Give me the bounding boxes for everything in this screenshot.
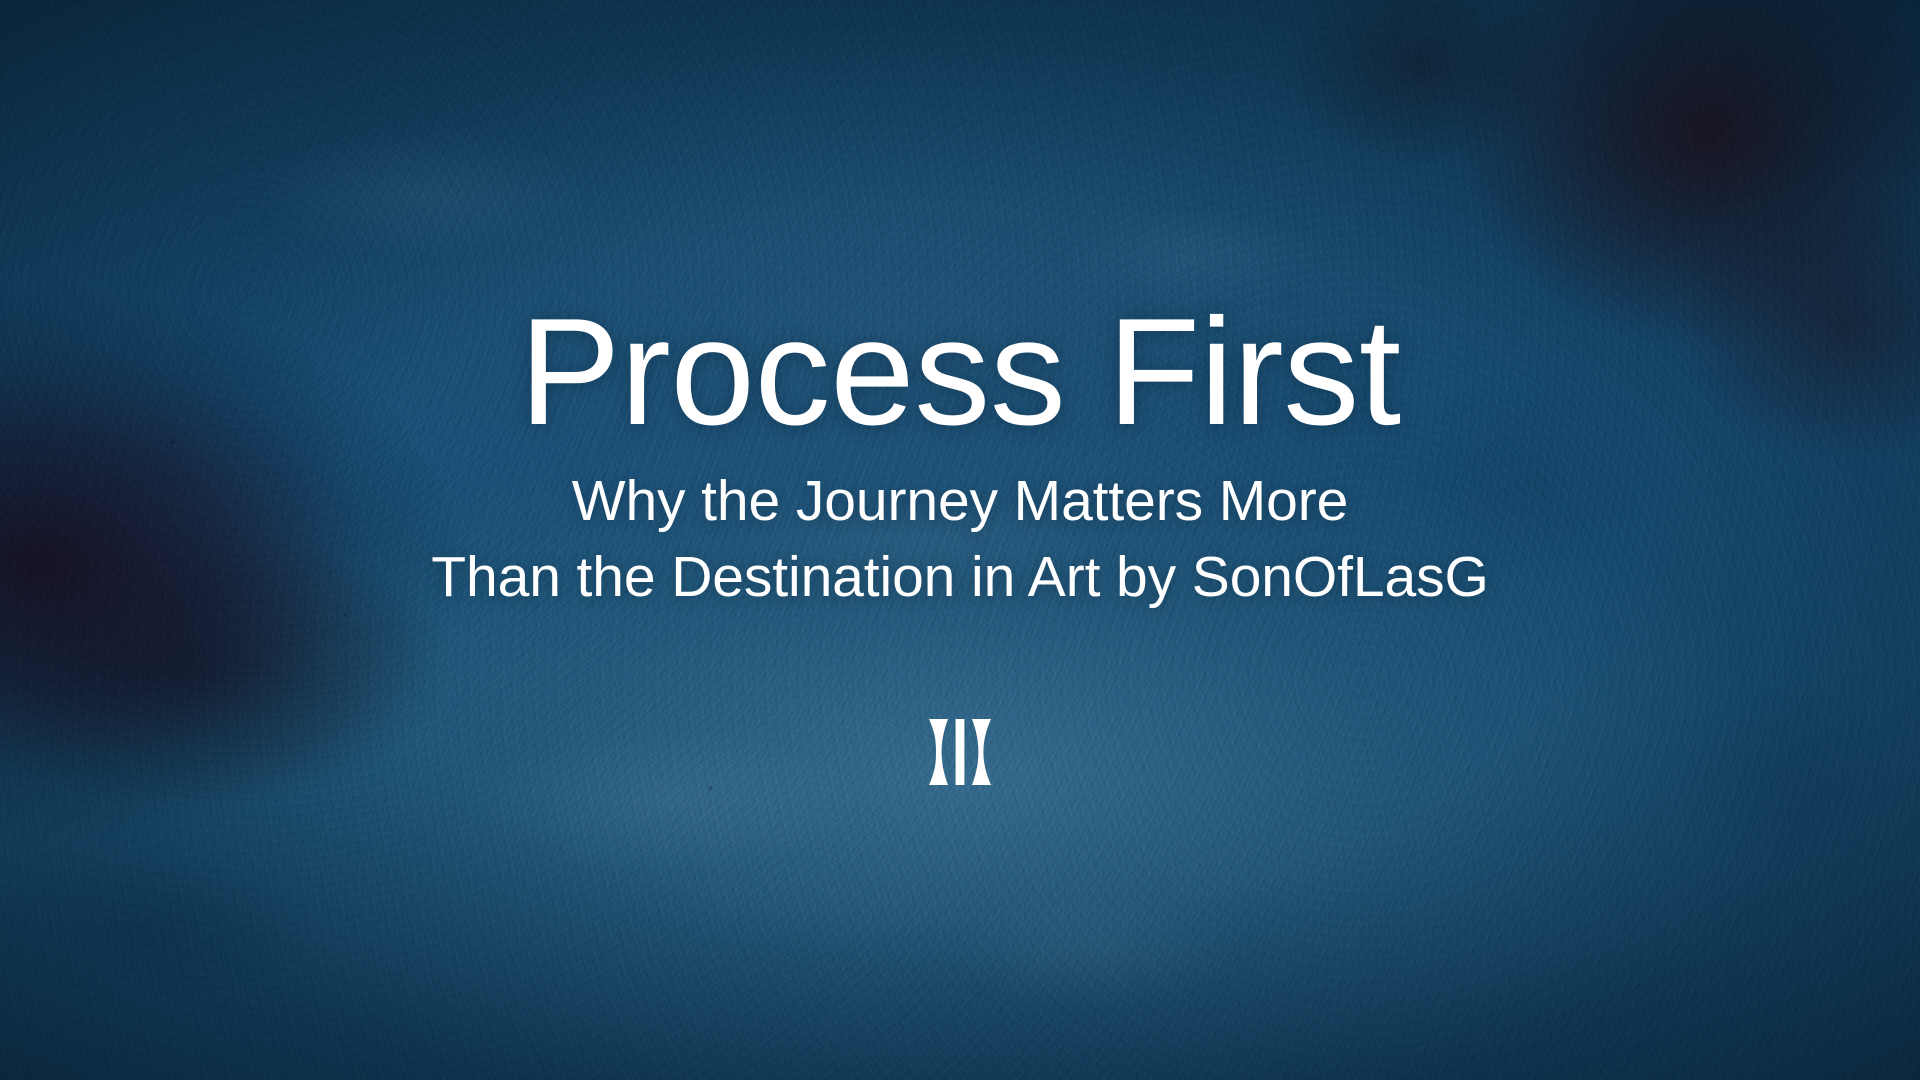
poster-content: Process First Why the Journey Matters Mo… bbox=[0, 0, 1920, 1080]
subtitle-line-2: Than the Destination in Art by SonOfLasG bbox=[431, 540, 1488, 616]
poster-canvas: Process First Why the Journey Matters Mo… bbox=[0, 0, 1920, 1080]
subtitle-line-1: Why the Journey Matters More bbox=[431, 464, 1488, 540]
hourglass-brand-mark-icon bbox=[929, 719, 991, 785]
page-title: Process First bbox=[519, 295, 1401, 450]
page-subtitle: Why the Journey Matters More Than the De… bbox=[431, 464, 1488, 616]
